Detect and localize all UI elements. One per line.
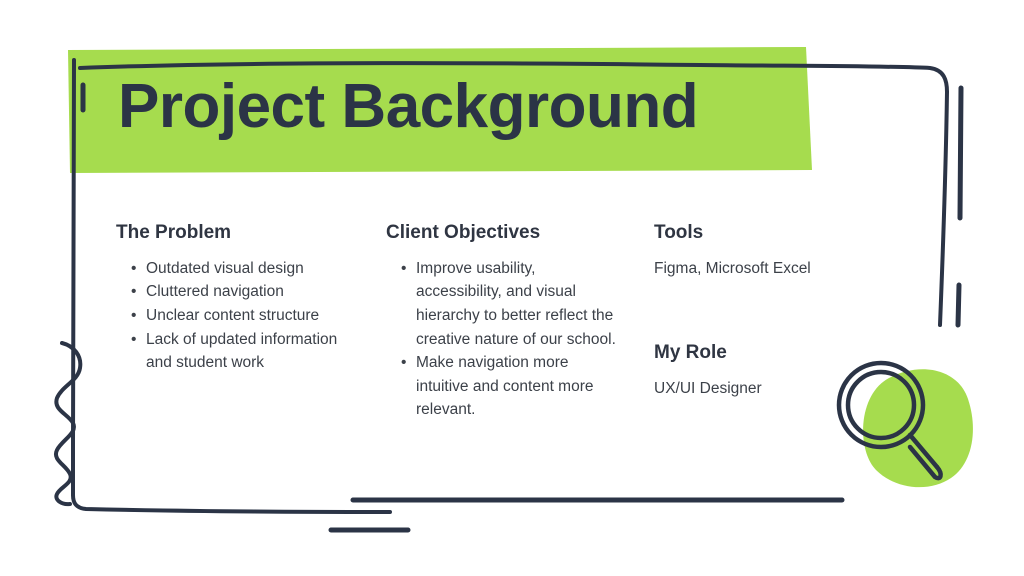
list-item: Improve usability, accessibility, and vi… xyxy=(416,257,621,351)
list-client-objectives: Improve usability, accessibility, and vi… xyxy=(386,257,621,422)
heading-the-problem: The Problem xyxy=(116,222,366,245)
slide-title: Project Background xyxy=(118,74,778,139)
slide-canvas: Project Background The Problem Outdated … xyxy=(0,0,1024,576)
column-client-objectives: Client Objectives Improve usability, acc… xyxy=(386,222,621,422)
tools-value: Figma, Microsoft Excel xyxy=(654,257,884,281)
list-item: Unclear content structure xyxy=(146,304,366,328)
column-the-problem: The Problem Outdated visual design Clutt… xyxy=(116,222,366,375)
list-item: Outdated visual design xyxy=(146,257,366,281)
list-item: Cluttered navigation xyxy=(146,280,366,304)
heading-client-objectives: Client Objectives xyxy=(386,222,621,245)
list-the-problem: Outdated visual design Cluttered navigat… xyxy=(116,257,366,375)
heading-tools: Tools xyxy=(654,222,884,245)
list-item: Lack of updated information and student … xyxy=(146,328,366,375)
magnifying-glass-icon xyxy=(825,355,990,500)
list-item: Make navigation more intuitive and conte… xyxy=(416,351,621,422)
